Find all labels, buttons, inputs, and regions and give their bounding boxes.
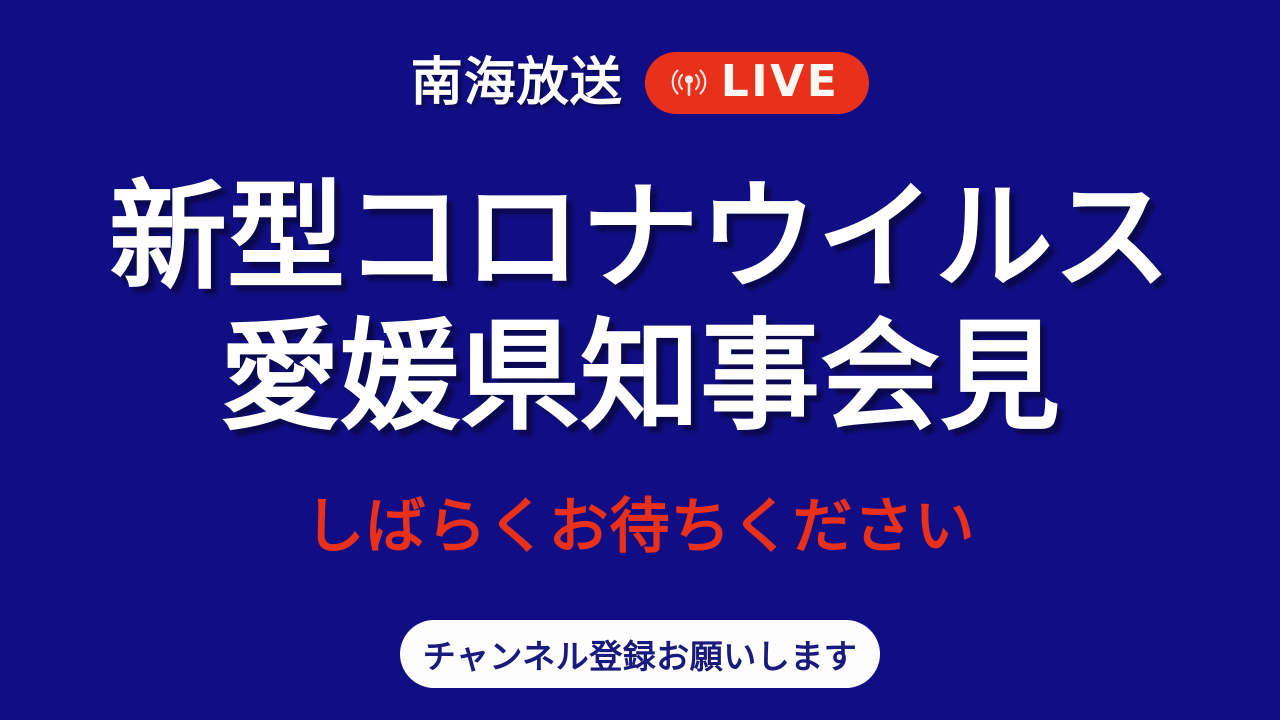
standby-message: しばらくお待ちください: [0, 494, 1280, 560]
subscribe-button[interactable]: チャンネル登録お願いします: [400, 620, 880, 688]
live-badge-label: LIVE: [721, 60, 840, 104]
broadcast-antenna-icon: [669, 62, 709, 102]
headline-line-1: 新型コロナウイルス: [0, 168, 1280, 307]
headline-line-2: 愛媛県知事会見: [0, 307, 1280, 449]
header-row: 南海放送 LIVE: [0, 52, 1280, 114]
station-name: 南海放送: [411, 57, 623, 109]
headline-block: 新型コロナウイルス 愛媛県知事会見: [0, 168, 1280, 449]
live-badge: LIVE: [645, 52, 870, 114]
subscribe-button-container: チャンネル登録お願いします: [0, 620, 1280, 688]
broadcast-standby-card: 南海放送 LIVE 新型コロナウイルス 愛媛県知事会見 しばらくお待: [0, 0, 1280, 720]
